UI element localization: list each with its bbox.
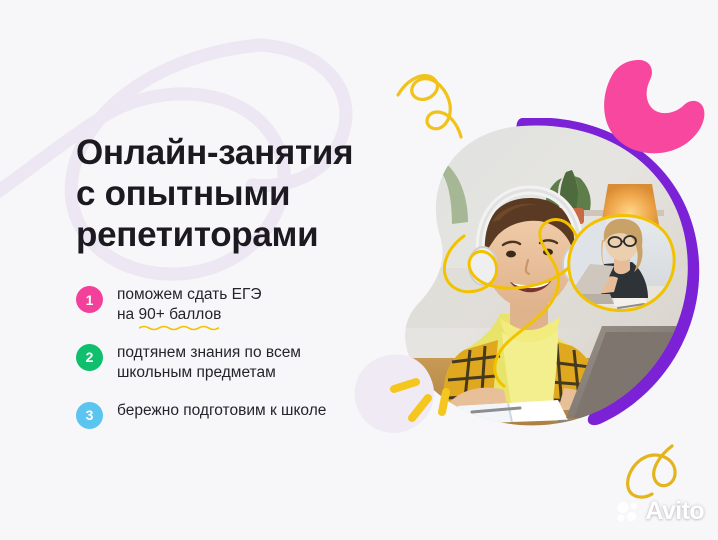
benefit-text-3: бережно подготовим к школе [117, 401, 326, 421]
avito-logo-icon [616, 500, 640, 524]
avito-wordmark: Avito [645, 497, 704, 526]
list-item: 1 поможем сдать ЕГЭна 90+ баллов [76, 285, 396, 326]
benefit-text-1: поможем сдать ЕГЭна 90+ баллов [117, 285, 262, 326]
list-item: 2 подтянем знания по всем школьным предм… [76, 343, 396, 384]
benefit-number-badge-2: 2 [76, 344, 103, 371]
hero-photo [352, 118, 718, 458]
benefit-highlight-wrap: 90+ баллов [139, 305, 222, 325]
page-title: Онлайн-занятия с опытными репетиторами [76, 133, 376, 256]
list-item: 3 бережно подготовим к школе [76, 401, 396, 429]
wavy-underline-icon [139, 325, 222, 331]
promo-banner: Онлайн-занятия с опытными репетиторами 1… [0, 0, 718, 540]
benefit-highlight-text: 90+ баллов [139, 306, 222, 323]
benefit-number-badge-3: 3 [76, 402, 103, 429]
avito-watermark: Avito [616, 497, 704, 526]
benefit-text-2: подтянем знания по всем школьным предмет… [117, 343, 301, 384]
benefit-line-1: поможем сдать ЕГЭ [117, 286, 262, 303]
benefit-line-2-prefix: на [117, 306, 139, 323]
benefit-number-badge-1: 1 [76, 286, 103, 313]
benefits-list: 1 поможем сдать ЕГЭна 90+ баллов 2 подтя… [76, 285, 396, 429]
